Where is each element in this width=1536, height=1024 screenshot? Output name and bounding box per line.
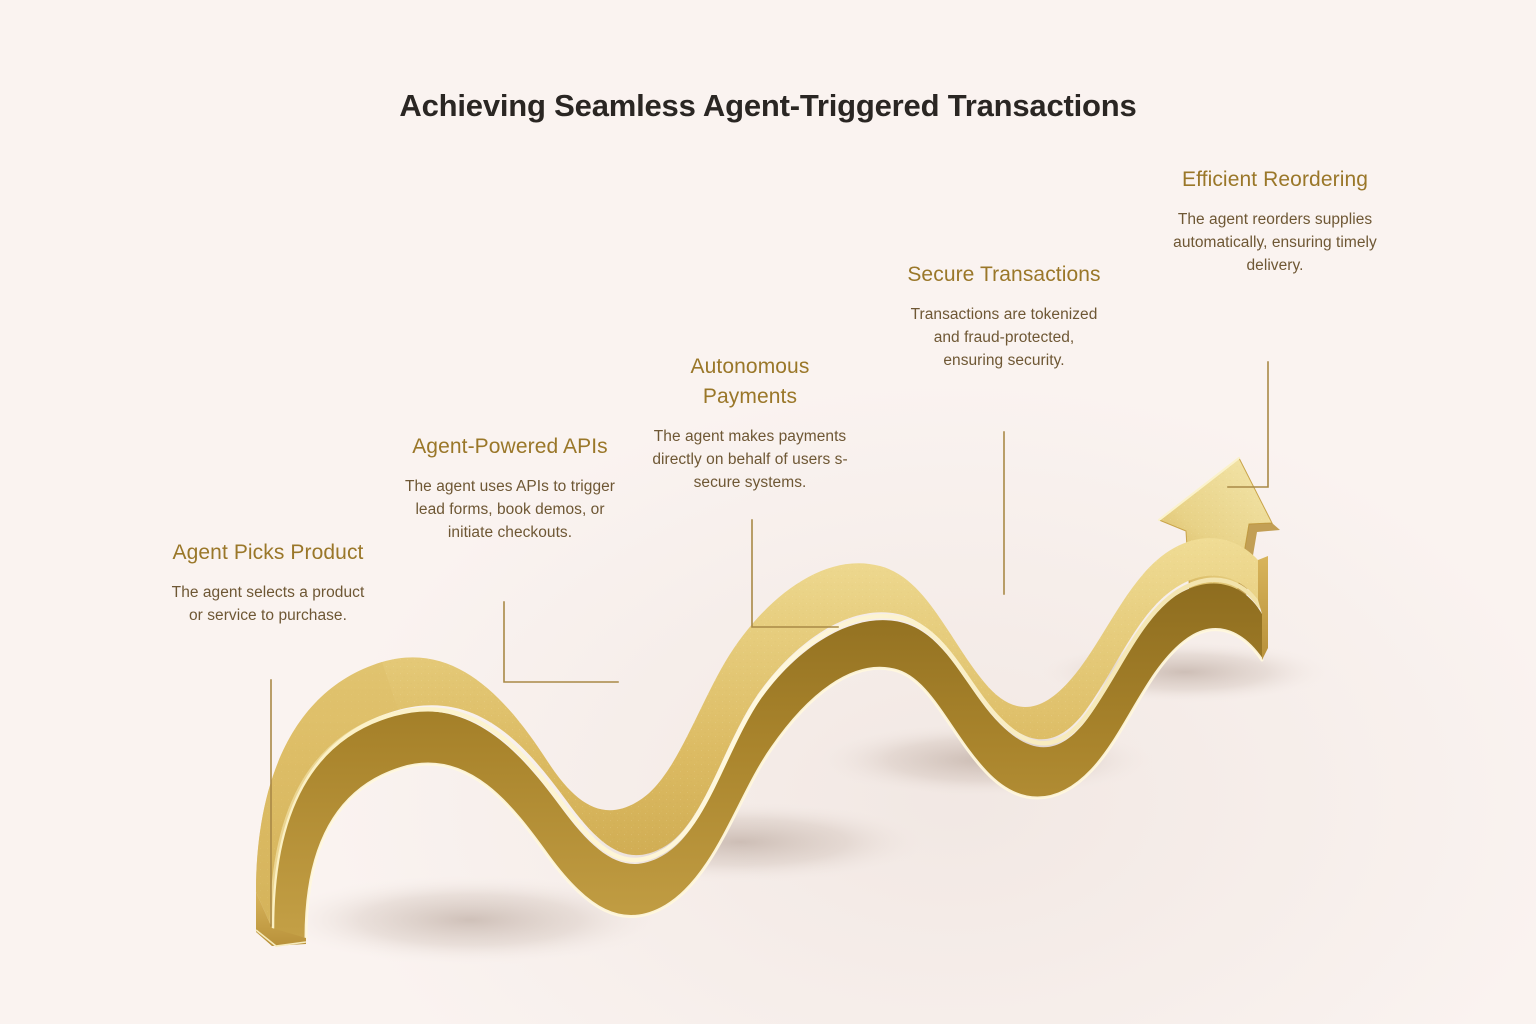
step-body-4: Transactions are tokenized and fraud-pro… xyxy=(906,304,1102,373)
ribbon-edge-highlight xyxy=(272,580,1262,938)
step-heading-2: Agent-Powered APIs xyxy=(404,432,616,462)
step-block-5[interactable]: Efficient Reordering The agent reorders … xyxy=(1172,165,1378,278)
ribbon-end-cap xyxy=(1258,556,1268,660)
ribbon-top-face xyxy=(256,538,1258,928)
arrow-head-icon xyxy=(1159,458,1280,608)
infographic-canvas: Achieving Seamless Agent-Triggered Trans… xyxy=(0,0,1536,1024)
ribbon-ground-shadow xyxy=(270,640,1335,966)
connector-line-3 xyxy=(752,520,838,627)
step-body-1: The agent selects a product or service t… xyxy=(168,582,368,628)
step-heading-4: Secure Transactions xyxy=(906,260,1102,290)
wave-ribbon-graphic xyxy=(0,0,1536,1024)
step-block-1[interactable]: Agent Picks Product The agent selects a … xyxy=(168,538,368,628)
step-block-4[interactable]: Secure Transactions Transactions are tok… xyxy=(906,260,1102,373)
step-body-3: The agent makes payments directly on beh… xyxy=(650,426,850,495)
ribbon-start-cap xyxy=(256,662,398,946)
step-block-3[interactable]: Autonomous Payments The agent makes paym… xyxy=(650,352,850,494)
step-block-2[interactable]: Agent-Powered APIs The agent uses APIs t… xyxy=(404,432,616,545)
page-title: Achieving Seamless Agent-Triggered Trans… xyxy=(0,88,1536,124)
step-body-5: The agent reorders supplies automaticall… xyxy=(1172,209,1378,278)
step-heading-5: Efficient Reordering xyxy=(1172,165,1378,195)
ribbon-under-face xyxy=(272,583,1262,938)
step-heading-3: Autonomous Payments xyxy=(650,352,850,412)
connector-line-5 xyxy=(1228,362,1268,487)
step-body-2: The agent uses APIs to trigger lead form… xyxy=(404,476,616,545)
step-heading-1: Agent Picks Product xyxy=(168,538,368,568)
connector-lines xyxy=(0,0,1536,1024)
connector-line-2 xyxy=(504,602,618,682)
